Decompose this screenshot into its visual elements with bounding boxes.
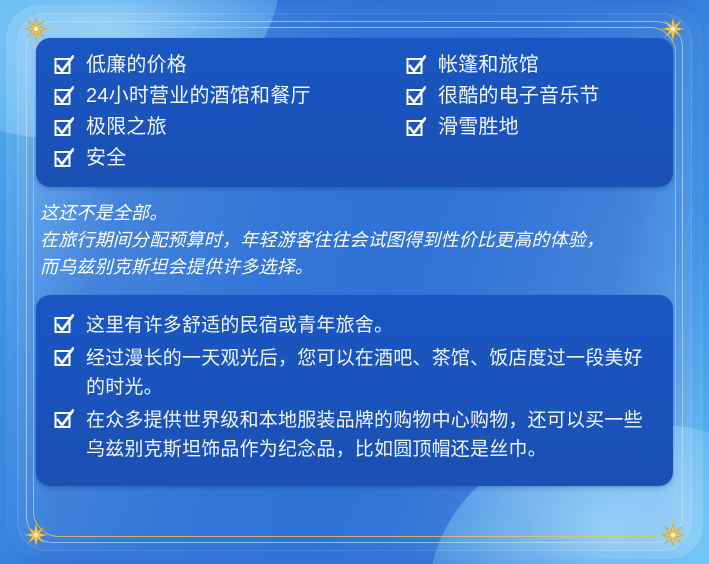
slide-content: 低廉的价格 24小时营业的酒馆和餐厅 极限之旅 — [36, 30, 673, 534]
list-item: 24小时营业的酒馆和餐厅 — [54, 83, 406, 109]
list-item-label: 低廉的价格 — [86, 52, 187, 78]
list-item: 滑雪胜地 — [406, 114, 655, 140]
features-card: 低廉的价格 24小时营业的酒馆和餐厅 极限之旅 — [36, 38, 673, 187]
list-item-label: 滑雪胜地 — [438, 114, 519, 140]
list-item: 经过漫长的一天观光后，您可以在酒吧、茶馆、饭店度过一段美好的时光。 — [54, 344, 655, 402]
checked-checkbox-icon — [54, 86, 74, 108]
checked-checkbox-icon — [54, 409, 74, 431]
list-item: 很酷的电子音乐节 — [406, 83, 655, 109]
list-item-label: 24小时营业的酒馆和餐厅 — [86, 83, 311, 109]
checked-checkbox-icon — [54, 314, 74, 336]
checked-checkbox-icon — [54, 117, 74, 139]
list-item: 帐篷和旅馆 — [406, 52, 655, 78]
list-item-label: 经过漫长的一天观光后，您可以在酒吧、茶馆、饭店度过一段美好的时光。 — [86, 344, 655, 402]
checked-checkbox-icon — [54, 148, 74, 170]
intro-note-paragraph: 这还不是全部。 在旅行期间分配预算时，年轻游客往往会试图得到性价比更高的体验， … — [40, 200, 673, 281]
slide-canvas: 低廉的价格 24小时营业的酒馆和餐厅 极限之旅 — [0, 0, 709, 564]
list-item: 低廉的价格 — [54, 52, 406, 78]
checked-checkbox-icon — [406, 117, 426, 139]
details-card: 这里有许多舒适的民宿或青年旅舍。 经过漫长的一天观光后，您可以在酒吧、茶馆、饭店… — [36, 295, 673, 486]
list-item: 在众多提供世界级和本地服装品牌的购物中心购物，还可以买一些乌兹别克斯坦饰品作为纪… — [54, 406, 655, 464]
list-item-label: 在众多提供世界级和本地服装品牌的购物中心购物，还可以买一些乌兹别克斯坦饰品作为纪… — [86, 406, 655, 464]
features-left-column: 低廉的价格 24小时营业的酒馆和餐厅 极限之旅 — [54, 52, 406, 171]
features-right-column: 帐篷和旅馆 很酷的电子音乐节 滑雪胜地 — [406, 52, 655, 171]
checked-checkbox-icon — [406, 55, 426, 77]
list-item-label: 这里有许多舒适的民宿或青年旅舍。 — [86, 311, 393, 340]
list-item-label: 安全 — [86, 145, 126, 171]
checked-checkbox-icon — [54, 55, 74, 77]
list-item-label: 帐篷和旅馆 — [438, 52, 539, 78]
list-item: 安全 — [54, 145, 406, 171]
list-item: 这里有许多舒适的民宿或青年旅舍。 — [54, 311, 655, 340]
list-item-label: 很酷的电子音乐节 — [438, 83, 600, 109]
checked-checkbox-icon — [406, 86, 426, 108]
checked-checkbox-icon — [54, 347, 74, 369]
list-item: 极限之旅 — [54, 114, 406, 140]
list-item-label: 极限之旅 — [86, 114, 167, 140]
